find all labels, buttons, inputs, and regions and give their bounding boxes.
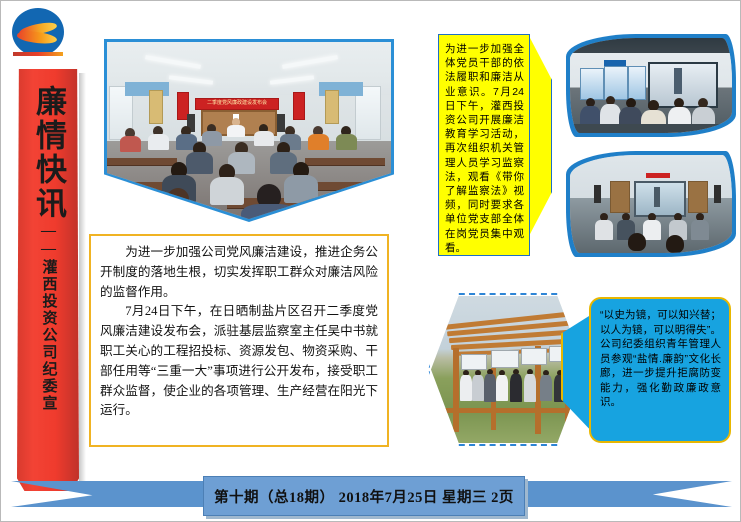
yellow-callout-box: 为进一步加强全体党员干部的依法履职和廉洁从业意识。7月24日下午，灌西投资公司开… <box>438 34 530 256</box>
display-panel-1 <box>580 68 604 100</box>
footer-issue-line: 第十期（总18期） 2018年7月25日 星期三 2页 <box>214 486 514 507</box>
audience-body <box>643 220 661 240</box>
photo-exhibition-hall <box>566 34 736 137</box>
wall-panel-right <box>688 181 708 213</box>
auditorium-speaker-right <box>714 185 721 203</box>
photo-exhibition-hall-image <box>570 38 732 133</box>
cyan-callout-text: “以史为镜，可以知兴替；以人为镜，可以明得失”。公司纪委组织青年管理人员参观“盐… <box>600 309 721 408</box>
attendee-body <box>202 131 222 146</box>
desk-row-1 <box>107 158 177 165</box>
attendee-body <box>120 136 141 152</box>
meeting-banner-text: 二季度党风廉政建设发布会 <box>196 99 278 108</box>
photo-auditorium <box>566 151 736 257</box>
desk-row-2 <box>305 158 385 165</box>
attendee-body <box>210 177 244 205</box>
audience-body <box>595 220 613 240</box>
newsletter-page: 廉情快讯 ——灌西投资公司纪委宣 二季度党风廉政建设发布会 <box>0 0 741 522</box>
footer-plate: 第十期（总18期） 2018年7月25日 星期三 2页 <box>203 476 525 516</box>
photo-meeting-room-image: 二季度党风廉政建设发布会 <box>107 42 391 219</box>
presenter-body <box>227 125 245 137</box>
wall-scroll-1 <box>149 90 163 124</box>
attendee-body <box>148 134 169 150</box>
wall-scroll-4 <box>325 90 339 124</box>
cyan-callout-box: “以史为镜，可以知兴替；以人为镜，可以明得失”。公司纪委组织青年管理人员参观“盐… <box>589 297 731 443</box>
article-paragraph-2: 7月24日下午，在日晒制盐片区召开二季度党风廉洁建设发布会，派驻基层监察室主任吴… <box>100 302 378 421</box>
logo-underbar <box>13 52 63 56</box>
attendee-body <box>336 134 357 150</box>
yellow-callout-text: 为进一步加强全体党员干部的依法履职和廉洁从业意识。7月24日下午，灌西投资公司开… <box>445 43 524 254</box>
vertical-banner-text: 廉情快讯 ——灌西投资公司纪委宣 <box>17 73 79 487</box>
banner-main-title: 廉情快讯 <box>29 85 67 221</box>
attendee-body <box>254 131 274 146</box>
wall-panel-left <box>610 181 630 213</box>
speaker-right <box>277 114 285 132</box>
attendee-body-front <box>153 206 203 219</box>
display-panel-2 <box>604 66 628 100</box>
article-body: 为进一步加强公司党风廉洁建设，推进企务公开制度的落地生根，切实发挥职工群众对廉洁… <box>89 234 389 447</box>
auditorium-screen-figure <box>654 187 660 207</box>
auditorium-screen <box>634 181 686 217</box>
wall-scroll-3 <box>293 92 305 120</box>
attendee-body <box>308 134 329 150</box>
auditorium-scene <box>570 155 732 253</box>
banner-shadow <box>79 73 86 491</box>
banner-subtitle: ——灌西投资公司纪委宣 <box>39 223 58 412</box>
article-paragraph-1: 为进一步加强公司党风廉洁建设，推进企务公开制度的落地生根，切实发挥职工群众对廉洁… <box>100 243 378 302</box>
room-scene: 二季度党风廉政建设发布会 <box>107 42 391 219</box>
audience-head-front <box>666 235 684 253</box>
auditorium-banner <box>646 173 670 178</box>
screen-figure <box>674 68 682 94</box>
photo-meeting-room: 二季度党风廉政建设发布会 <box>104 39 394 222</box>
chair-row <box>570 124 732 133</box>
ceiling-light-3 <box>169 75 213 84</box>
attendee-body <box>186 152 213 174</box>
audience-head-front <box>628 233 646 251</box>
panel-header <box>604 60 626 66</box>
ceiling-light-2 <box>282 55 338 69</box>
meeting-banner: 二季度党风廉政建设发布会 <box>195 98 279 110</box>
photo-auditorium-image <box>570 155 732 253</box>
company-logo <box>12 8 64 56</box>
hall-scene <box>570 38 732 133</box>
display-panel-3 <box>628 66 646 100</box>
ceiling-light-1 <box>145 55 201 69</box>
auditorium-speaker-left <box>594 185 601 203</box>
yellow-callout-tail <box>529 36 552 236</box>
ceiling-light-4 <box>270 75 314 84</box>
audience-body <box>691 220 709 240</box>
